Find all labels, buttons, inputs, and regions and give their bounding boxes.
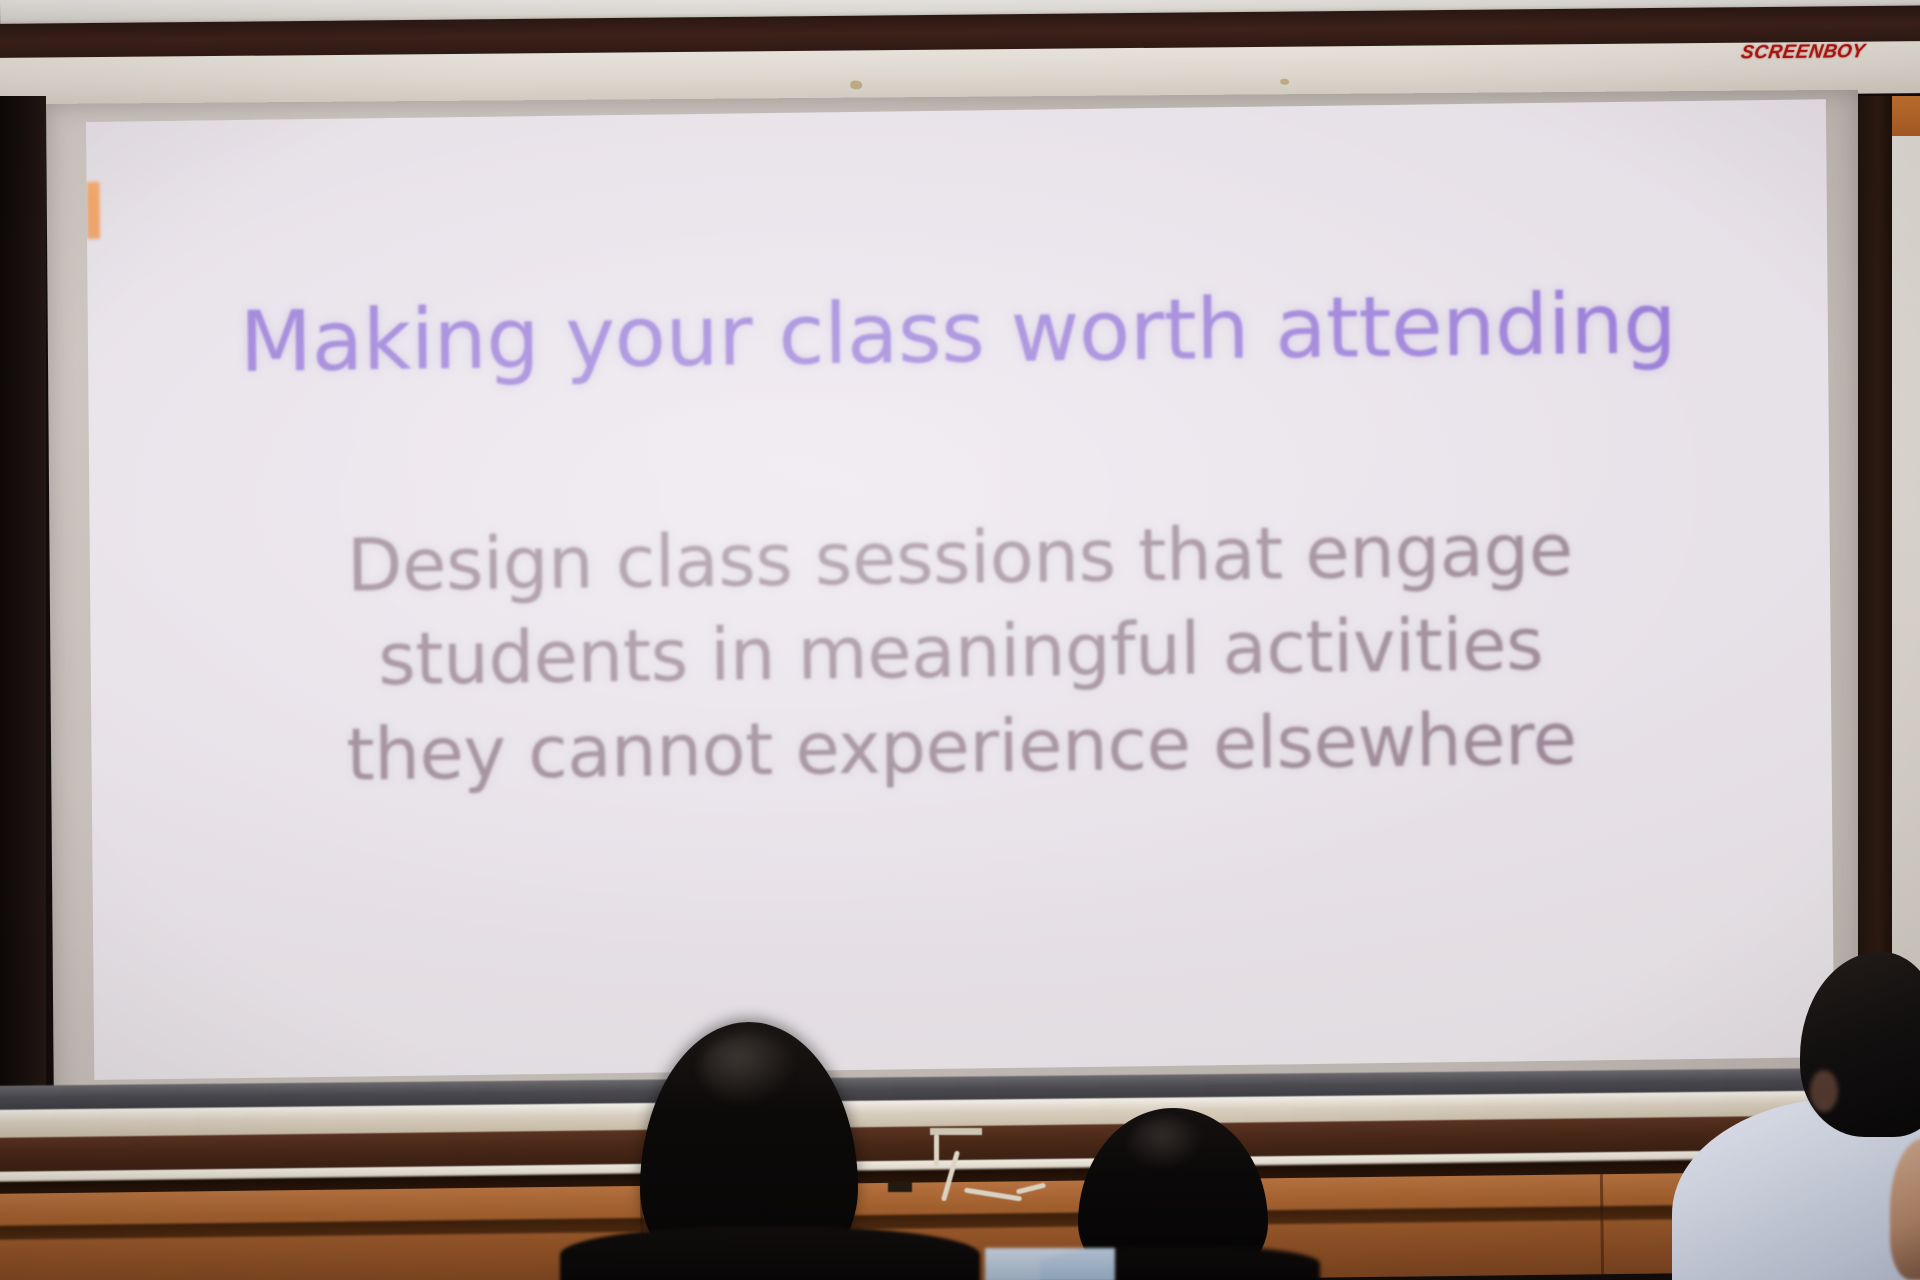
- brand-name-part1: SCREEN: [1739, 42, 1824, 64]
- slide-title: Making your class worth attending: [88, 279, 1829, 386]
- audience-member-long-hair-highlight: [700, 1034, 796, 1104]
- cable-anchor: [888, 1182, 912, 1192]
- left-wall-dark-column: [0, 96, 46, 1176]
- slide-body-text: Design class sessions that engage studen…: [179, 500, 1741, 803]
- audience-member-bowed-head-highlight: [1128, 1118, 1204, 1170]
- cable-segment-1: [934, 1134, 939, 1166]
- valance-fixture-right: [1280, 79, 1289, 85]
- brand-name-part2: BOY: [1821, 41, 1865, 62]
- projected-slide: Making your class worth attending Design…: [86, 99, 1834, 1080]
- audience-member-long-hair-shoulders: [560, 1226, 980, 1280]
- lecture-hall-photo: SCREENBOY Making your class worth attend…: [0, 0, 1920, 1280]
- screenboy-brand-logo: SCREENBOY: [1739, 41, 1866, 64]
- audience-member-light-shirt-ear: [1810, 1070, 1838, 1112]
- valance-fixture-left: [850, 80, 862, 89]
- laptop-screen-glow: [985, 1248, 1115, 1280]
- wood-panel-seam-right: [1600, 1174, 1604, 1274]
- right-wall-wood-accent: [1892, 96, 1920, 136]
- orange-accent-bar: [87, 182, 100, 239]
- slide-body-line-3: they cannot experience elsewhere: [181, 689, 1742, 804]
